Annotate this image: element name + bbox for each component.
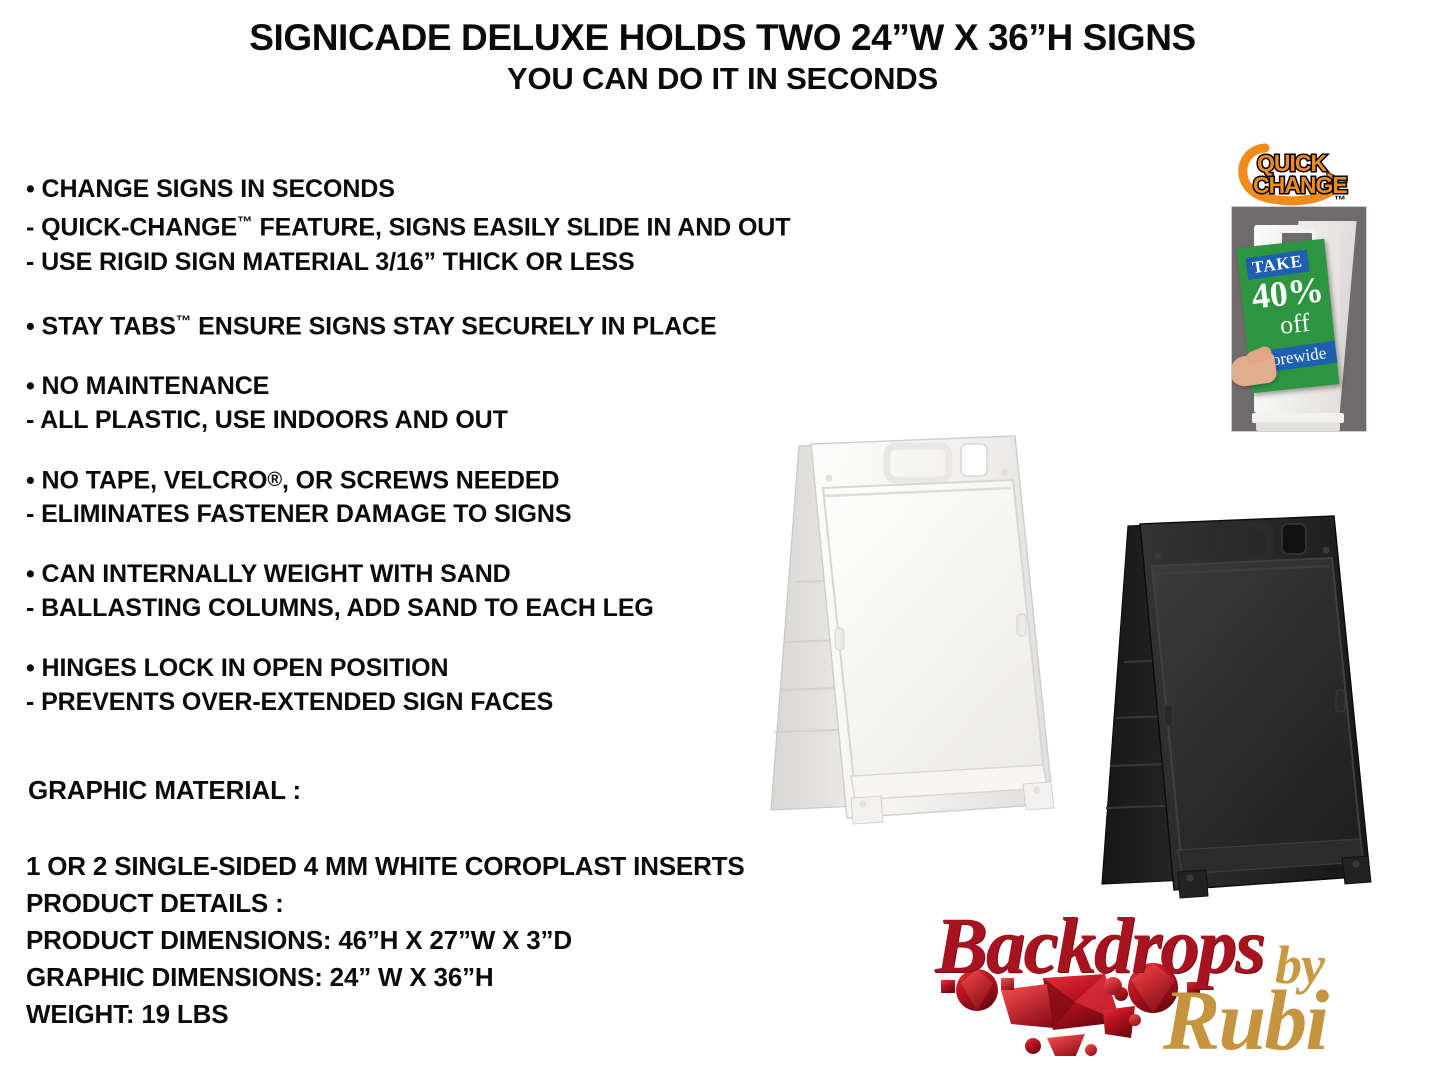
feature-group: • STAY TABS™ ENSURE SIGNS STAY SECURELY … — [26, 305, 986, 344]
product-photo-thumbnail: TAKE 40% off storewide — [1232, 207, 1366, 431]
quick-change-logo: QUICK CHANGE ™ — [1231, 138, 1353, 206]
headline-line-1: SIGNICADE DELUXE HOLDS TWO 24”W X 36”H S… — [0, 16, 1445, 60]
feature-line: - USE RIGID SIGN MATERIAL 3/16” THICK OR… — [26, 245, 986, 279]
trademark-symbol: ™ — [237, 214, 253, 231]
detail-line: WEIGHT: 19 LBS — [26, 996, 986, 1033]
headline-line-2: YOU CAN DO IT IN SECONDS — [0, 60, 1445, 98]
page-title: SIGNICADE DELUXE HOLDS TWO 24”W X 36”H S… — [0, 16, 1445, 98]
detail-line: 1 OR 2 SINGLE-SIDED 4 MM WHITE COROPLAST… — [26, 848, 986, 885]
feature-line: • NO MAINTENANCE — [26, 369, 986, 403]
brand-logo: Backdrops by Rubi — [935, 898, 1440, 1056]
feature-line: - QUICK-CHANGE™ FEATURE, SIGNS EASILY SL… — [26, 206, 986, 245]
product-details-block: 1 OR 2 SINGLE-SIDED 4 MM WHITE COROPLAST… — [26, 848, 986, 1033]
black-signicade-stand — [1088, 512, 1408, 904]
detail-line: PRODUCT DIMENSIONS: 46”H X 27”W X 3”D — [26, 922, 986, 959]
svg-text:™: ™ — [1334, 193, 1346, 206]
feature-group: • NO MAINTENANCE - ALL PLASTIC, USE INDO… — [26, 369, 986, 437]
trademark-symbol: ™ — [176, 313, 192, 330]
feature-group: • CHANGE SIGNS IN SECONDS - QUICK-CHANGE… — [26, 172, 986, 279]
detail-line: PRODUCT DETAILS : — [26, 885, 986, 922]
photo-stand-foot-lower — [1256, 422, 1340, 431]
white-signicade-stand — [755, 432, 1105, 832]
graphic-material-heading: GRAPHIC MATERIAL : — [28, 775, 301, 806]
brand-logo-rubi: Rubi — [1163, 970, 1327, 1070]
registered-symbol: ® — [267, 469, 282, 491]
feature-line: • CHANGE SIGNS IN SECONDS — [26, 172, 986, 206]
feature-line: • STAY TABS™ ENSURE SIGNS STAY SECURELY … — [26, 305, 986, 344]
detail-line: GRAPHIC DIMENSIONS: 24” W X 36”H — [26, 959, 986, 996]
